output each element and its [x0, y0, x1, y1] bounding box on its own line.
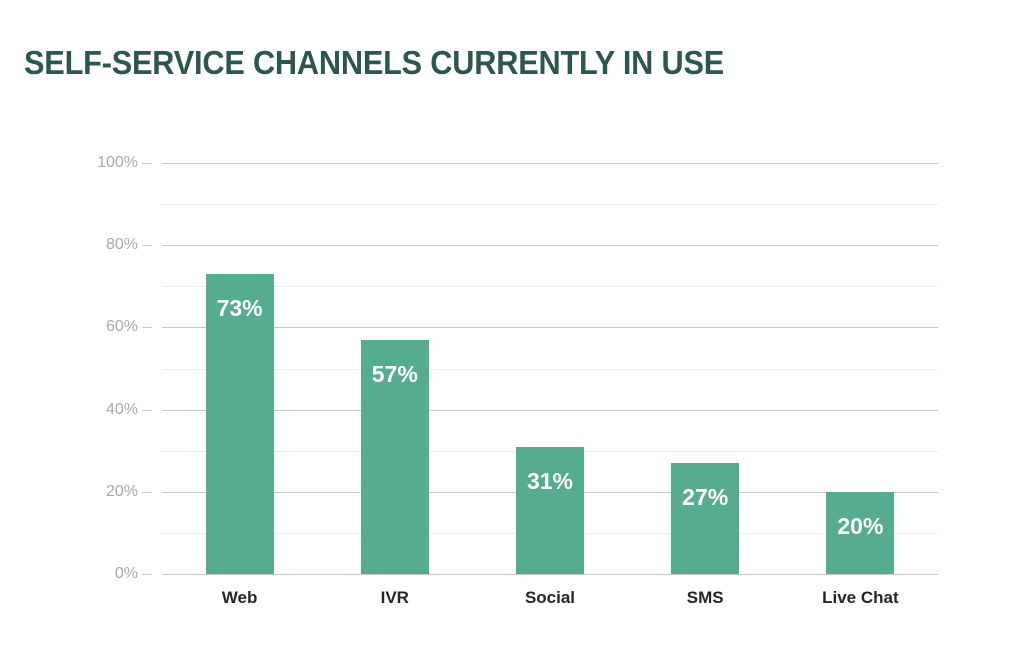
gridline-minor [162, 204, 938, 205]
y-axis-tick-mark [142, 410, 152, 411]
y-axis-tick-mark [142, 574, 152, 575]
bar-live-chat[interactable]: 20% [826, 492, 894, 574]
page-title: SELF-SERVICE CHANNELS CURRENTLY IN USE [24, 43, 724, 83]
gridline-major [162, 410, 938, 411]
y-axis-tick-mark [142, 245, 152, 246]
bar-sms[interactable]: 27% [671, 463, 739, 574]
y-axis-tick-label: 40% [60, 402, 138, 418]
x-axis-tick-label: Live Chat [783, 586, 938, 610]
bar-chart-figure: SELF-SERVICE CHANNELS CURRENTLY IN USE 0… [0, 0, 1024, 664]
y-axis: 0%20%40%60%80%100% [60, 163, 152, 574]
plot-area: 73%57%31%27%20% [162, 163, 938, 574]
gridline-major [162, 327, 938, 328]
gridline-major [162, 245, 938, 246]
y-axis-tick-label: 80% [60, 237, 138, 253]
y-axis-tick-mark [142, 327, 152, 328]
bar-rect[interactable] [361, 340, 429, 574]
y-axis-tick-mark [142, 492, 152, 493]
gridline-major [162, 574, 938, 575]
bar-rect[interactable] [671, 463, 739, 574]
x-axis-tick-label: Social [472, 586, 627, 610]
x-axis-tick-label: IVR [317, 586, 472, 610]
gridline-minor [162, 286, 938, 287]
bar-rect[interactable] [516, 447, 584, 574]
y-axis-tick-mark [142, 163, 152, 164]
x-axis-tick-label: Web [162, 586, 317, 610]
y-axis-tick-label: 20% [60, 484, 138, 500]
x-axis-tick-label: SMS [628, 586, 783, 610]
gridline-major [162, 163, 938, 164]
bar-rect[interactable] [826, 492, 894, 574]
bar-ivr[interactable]: 57% [361, 340, 429, 574]
y-axis-tick-label: 0% [60, 566, 138, 582]
y-axis-tick-label: 100% [60, 155, 138, 171]
bar-web[interactable]: 73% [206, 274, 274, 574]
x-axis: WebIVRSocialSMSLive Chat [162, 586, 938, 626]
gridline-minor [162, 369, 938, 370]
bar-social[interactable]: 31% [516, 447, 584, 574]
bar-rect[interactable] [206, 274, 274, 574]
y-axis-tick-label: 60% [60, 319, 138, 335]
